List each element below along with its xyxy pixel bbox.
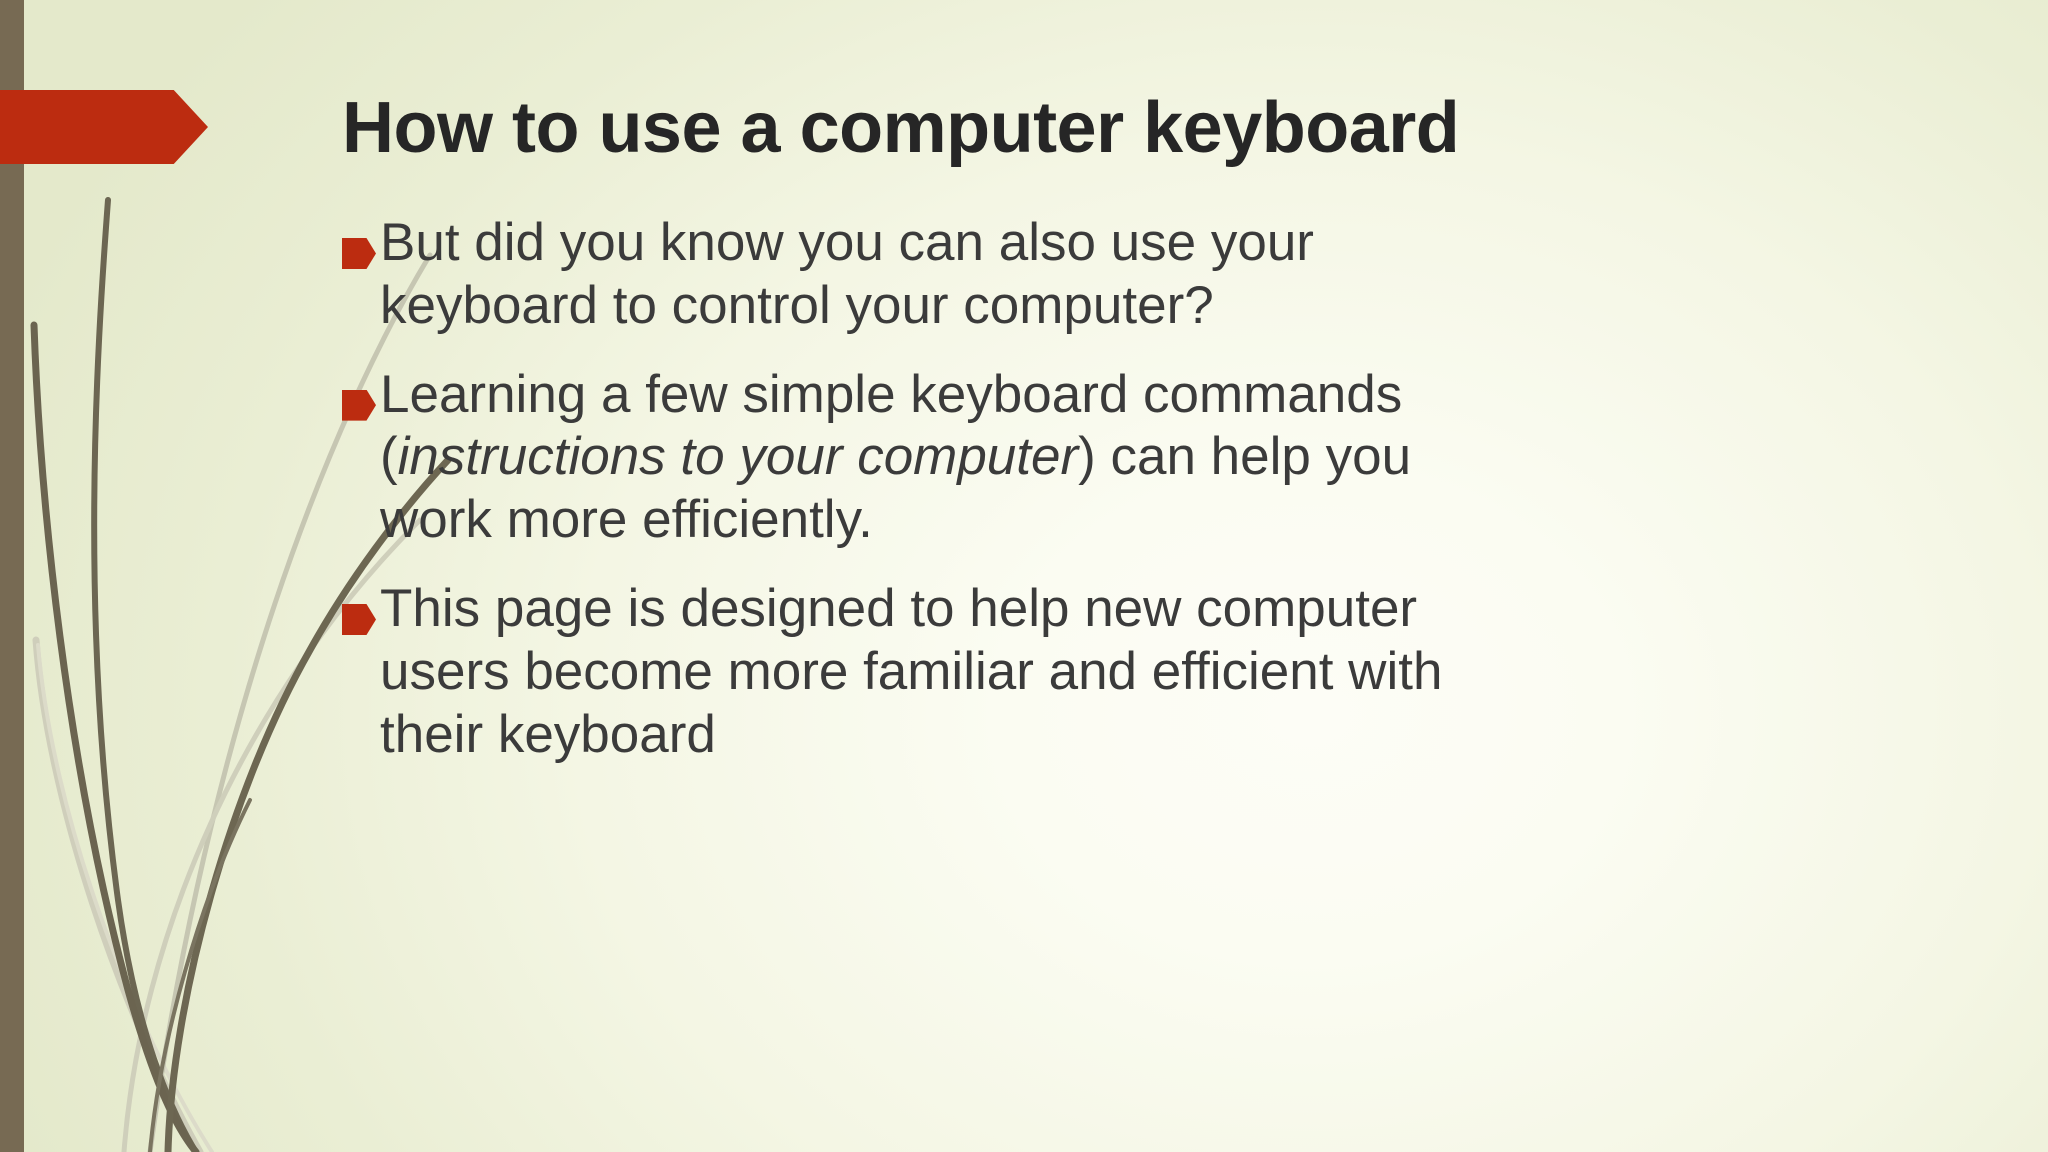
arrow-bullet-icon	[342, 604, 376, 635]
left-accent-band	[0, 0, 24, 1152]
arrow-bullet-icon	[342, 238, 376, 269]
slide-body-bullets: But did you know you can also use your k…	[342, 212, 1472, 792]
bullet-text-3: This page is designed to help new comput…	[380, 578, 1472, 766]
title-accent-arrow-icon	[0, 90, 208, 164]
bullet-2-segment-italic: instructions to your computer	[398, 427, 1078, 486]
list-item: This page is designed to help new comput…	[342, 578, 1472, 766]
bullet-text-1: But did you know you can also use your k…	[380, 212, 1472, 338]
bullet-text-2: Learning a few simple keyboard commands …	[380, 364, 1472, 552]
slide-title: How to use a computer keyboard	[342, 92, 1982, 164]
presentation-slide: How to use a computer keyboard But did y…	[0, 0, 2048, 1152]
list-item: But did you know you can also use your k…	[342, 212, 1472, 338]
arrow-bullet-icon	[342, 390, 376, 421]
list-item: Learning a few simple keyboard commands …	[342, 364, 1472, 552]
